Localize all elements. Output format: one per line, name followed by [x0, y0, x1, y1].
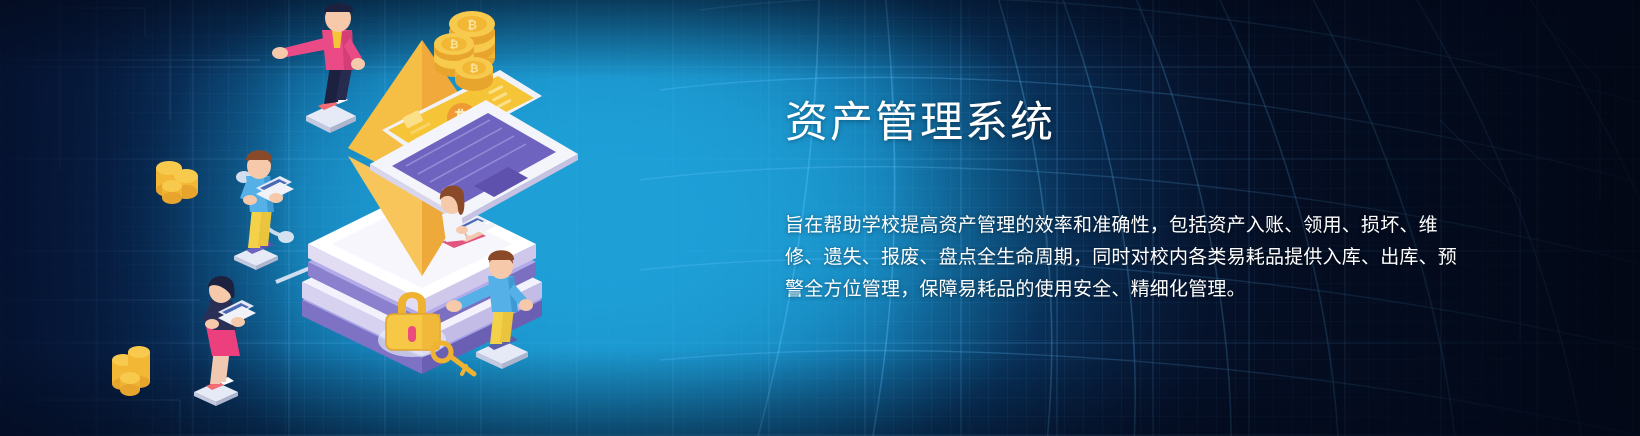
person-laptop-pink-skirt [194, 276, 256, 406]
hero-illustration: ₿ ₿ [70, 0, 630, 436]
person-hoverboard-pink [272, 3, 365, 133]
page-title: 资产管理系统 [785, 92, 1475, 154]
svg-text:₿: ₿ [467, 18, 477, 32]
svg-text:₿: ₿ [450, 39, 459, 51]
coin-stack-left [156, 161, 198, 204]
hero-banner: ₿ ₿ [0, 0, 1640, 436]
coin-stack-bottom [112, 346, 150, 396]
person-laptop-blue [234, 150, 294, 270]
svg-text:₿: ₿ [470, 63, 479, 75]
banner-description: 旨在帮助学校提高资产管理的效率和准确性，包括资产入账、领用、损坏、维修、遗失、报… [785, 210, 1475, 306]
banner-copy: 资产管理系统 旨在帮助学校提高资产管理的效率和准确性，包括资产入账、领用、损坏、… [785, 92, 1475, 306]
